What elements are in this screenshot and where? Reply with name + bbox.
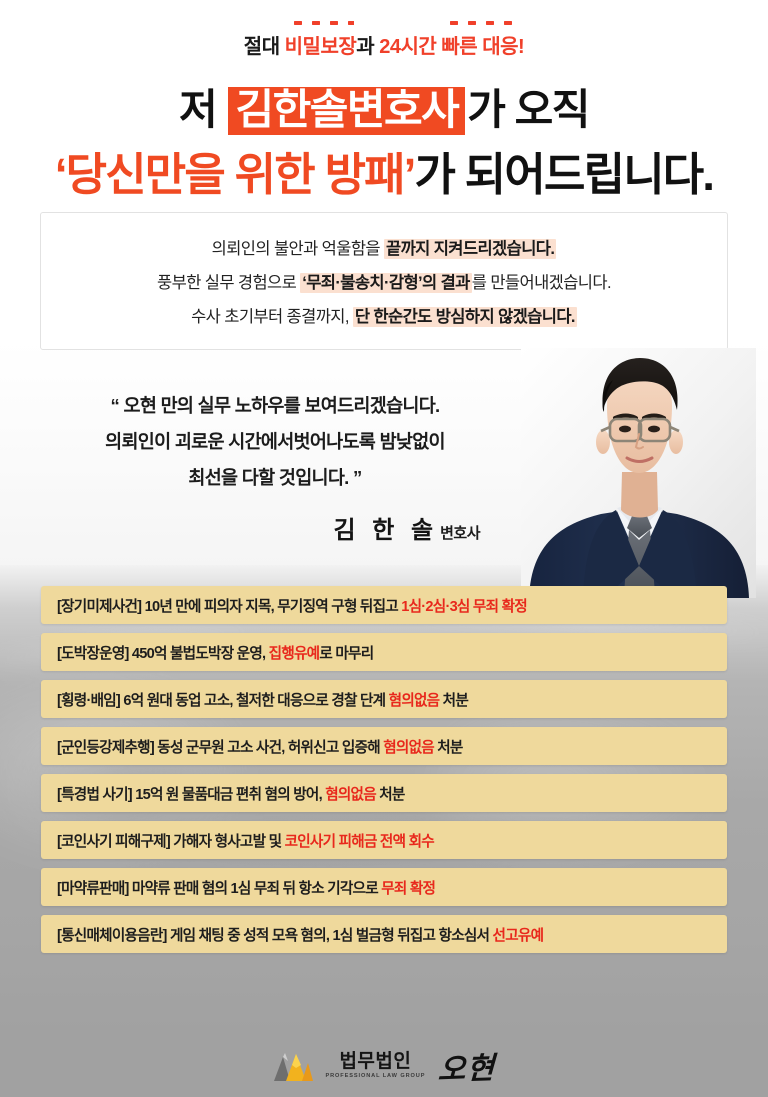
- case-result-text: [코인사기 피해구제] 가해자 형사고발 및 코인사기 피해금 전액 회수: [57, 830, 434, 851]
- firm-type-kr: 법무법인: [339, 1052, 411, 1071]
- case-body: 게임 채팅 중 성적 모욕 혐의, 1심 벌금형 뒤집고 항소심서: [167, 928, 493, 944]
- case-body: 가해자 형사고발 및: [170, 834, 285, 850]
- case-body: 동성 군무원 고소 사건, 허위신고 입증해: [154, 740, 383, 756]
- promise-plain-before: 풍부한 실무 경험으로: [157, 274, 300, 292]
- kicker-prefix: 절대: [244, 36, 285, 58]
- case-result-card[interactable]: [횡령·배임] 6억 원대 동업 고소, 철저한 대응으로 경찰 단계 혐의없음…: [41, 680, 727, 718]
- case-result-text: [도박장운영] 450억 불법도박장 운영, 집행유예로 마무리: [57, 642, 373, 663]
- kicker-line: 절대 비밀보장과 24시간 빠른 대응!: [0, 30, 768, 59]
- case-result-text: [통신매체이용음란] 게임 채팅 중 성적 모욕 혐의, 1심 벌금형 뒤집고 …: [57, 924, 543, 945]
- case-outcome: 선고유예: [493, 928, 544, 944]
- headline1-before: 저: [179, 86, 226, 133]
- promise-box: 의뢰인의 불안과 억울함을 끝까지 지켜드리겠습니다. 풍부한 실무 경험으로 …: [40, 212, 728, 350]
- case-outcome: 코인사기 피해금 전액 회수: [285, 834, 434, 850]
- promise-plain-before: 수사 초기부터 종결까지,: [191, 308, 353, 326]
- case-result-text: [군인등강제추행] 동성 군무원 고소 사건, 허위신고 입증해 혐의없음 처분: [57, 736, 463, 757]
- promise-line: 풍부한 실무 경험으로 ‘무죄·불송치·감형’의 결과를 만들어내겠습니다.: [157, 269, 611, 293]
- case-result-list: [장기미제사건] 10년 만에 피의자 지목, 무기징역 구형 뒤집고 1심·2…: [41, 586, 727, 953]
- footer-logo-bar: 법무법인 PROFESSIONAL LAW GROUP 오현: [0, 1034, 768, 1097]
- quote-line: “ 오현 만의 실무 노하우를 보여드리겠습니다.: [40, 388, 510, 424]
- poster-root: 절대 비밀보장과 24시간 빠른 대응! 저 김한솔변호사가 오직 ‘당신만을 …: [0, 0, 768, 1097]
- case-outcome: 무죄 확정: [381, 881, 435, 897]
- case-body: 450억 불법도박장 운영,: [129, 646, 269, 662]
- case-body: 6억 원대 동업 고소, 철저한 대응으로 경찰 단계: [120, 693, 389, 709]
- headline2-black: 가 되어드립니다.: [415, 149, 714, 200]
- firm-type-wordmark: 법무법인 PROFESSIONAL LAW GROUP: [325, 1052, 425, 1080]
- case-result-text: [특경법 사기] 15억 원 물품대금 편취 혐의 방어, 혐의없음 처분: [57, 783, 405, 804]
- case-result-card[interactable]: [특경법 사기] 15억 원 물품대금 편취 혐의 방어, 혐의없음 처분: [41, 774, 727, 812]
- case-outcome: 혐의없음: [383, 740, 434, 756]
- kicker-suffix: !: [518, 36, 524, 58]
- firm-type-en: PROFESSIONAL LAW GROUP: [325, 1074, 425, 1080]
- kicker-emphasis-response: 빠른 대응: [441, 30, 518, 59]
- quote-signature: 김 한 솔변호사: [40, 510, 510, 545]
- promise-plain-before: 의뢰인의 불안과 억울함을: [212, 240, 384, 258]
- kicker-emphasis-hours: 24시간: [379, 36, 441, 58]
- signature-title: 변호사: [440, 525, 480, 542]
- quote-line: 최선을 다할 것입니다. ”: [40, 460, 510, 496]
- kicker-middle: 과: [356, 36, 379, 58]
- case-tail: 로 마무리: [319, 646, 373, 662]
- signature-name: 김 한 솔: [334, 517, 439, 544]
- kicker-emphasis-secrecy: 비밀보장: [285, 30, 357, 59]
- case-tag: [군인등강제추행]: [57, 740, 154, 756]
- case-result-card[interactable]: [장기미제사건] 10년 만에 피의자 지목, 무기징역 구형 뒤집고 1심·2…: [41, 586, 727, 624]
- case-result-card[interactable]: [군인등강제추행] 동성 군무원 고소 사건, 허위신고 입증해 혐의없음 처분: [41, 727, 727, 765]
- case-outcome: 집행유예: [269, 646, 320, 662]
- case-result-text: [횡령·배임] 6억 원대 동업 고소, 철저한 대응으로 경찰 단계 혐의없음…: [57, 689, 468, 710]
- mountain-logo-icon: [272, 1050, 314, 1082]
- case-tail: 처분: [376, 787, 405, 803]
- case-tag: [횡령·배임]: [57, 693, 120, 709]
- case-result-text: [마약류판매] 마약류 판매 혐의 1심 무죄 뒤 항소 기각으로 무죄 확정: [57, 877, 435, 898]
- headline1-after: 가 오직: [467, 86, 589, 133]
- case-result-card[interactable]: [통신매체이용음란] 게임 채팅 중 성적 모욕 혐의, 1심 벌금형 뒤집고 …: [41, 915, 727, 953]
- case-result-text: [장기미제사건] 10년 만에 피의자 지목, 무기징역 구형 뒤집고 1심·2…: [57, 595, 527, 616]
- case-result-card[interactable]: [코인사기 피해구제] 가해자 형사고발 및 코인사기 피해금 전액 회수: [41, 821, 727, 859]
- quote-line: 의뢰인이 괴로운 시간에서벗어나도록 밤낮없이: [40, 424, 510, 460]
- case-tag: [마약류판매]: [57, 881, 129, 897]
- case-tail: 처분: [434, 740, 463, 756]
- lawyer-quote: “ 오현 만의 실무 노하우를 보여드리겠습니다. 의뢰인이 괴로운 시간에서벗…: [40, 388, 510, 545]
- case-tag: [통신매체이용음란]: [57, 928, 167, 944]
- firm-name-brush: 오현: [438, 1043, 497, 1089]
- case-tag: [특경법 사기]: [57, 787, 132, 803]
- promise-highlight: 끝까지 지켜드리겠습니다.: [384, 239, 556, 259]
- headline-line-2: ‘당신만을 위한 방패’가 되어드립니다.: [0, 138, 768, 203]
- case-outcome: 1심·2심·3심 무죄 확정: [401, 599, 527, 615]
- case-result-card[interactable]: [도박장운영] 450억 불법도박장 운영, 집행유예로 마무리: [41, 633, 727, 671]
- lawyer-name-highlight: 김한솔변호사: [228, 87, 465, 135]
- case-tail: 처분: [439, 693, 468, 709]
- promise-line: 수사 초기부터 종결까지, 단 한순간도 방심하지 않겠습니다.: [191, 303, 577, 327]
- case-tag: [장기미제사건]: [57, 599, 141, 615]
- case-outcome: 혐의없음: [389, 693, 440, 709]
- promise-highlight: ‘무죄·불송치·감형’의 결과: [300, 273, 472, 293]
- case-body: 10년 만에 피의자 지목, 무기징역 구형 뒤집고: [141, 599, 401, 615]
- promise-plain-after: 를 만들어내겠습니다.: [472, 274, 611, 292]
- lawyer-portrait-photo: [521, 348, 756, 598]
- promise-highlight: 단 한순간도 방심하지 않겠습니다.: [353, 307, 577, 327]
- case-tag: [도박장운영]: [57, 646, 129, 662]
- case-body: 마약류 판매 혐의 1심 무죄 뒤 항소 기각으로: [129, 881, 382, 897]
- case-tag: [코인사기 피해구제]: [57, 834, 170, 850]
- case-body: 15억 원 물품대금 편취 혐의 방어,: [132, 787, 325, 803]
- headline2-orange: ‘당신만을 위한 방패’: [55, 149, 415, 200]
- case-outcome: 혐의없음: [325, 787, 376, 803]
- promise-line: 의뢰인의 불안과 억울함을 끝까지 지켜드리겠습니다.: [212, 235, 557, 259]
- headline-line-1: 저 김한솔변호사가 오직: [0, 76, 768, 137]
- case-result-card[interactable]: [마약류판매] 마약류 판매 혐의 1심 무죄 뒤 항소 기각으로 무죄 확정: [41, 868, 727, 906]
